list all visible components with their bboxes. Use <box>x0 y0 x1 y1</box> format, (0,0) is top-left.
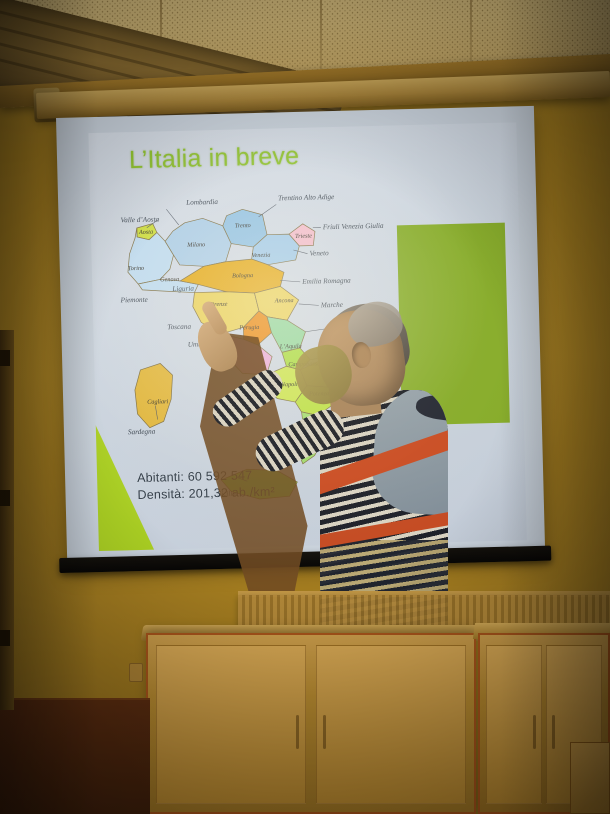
wall-lighting-shade <box>0 0 610 814</box>
photo-scene: L’Italia in breve <box>0 0 610 814</box>
